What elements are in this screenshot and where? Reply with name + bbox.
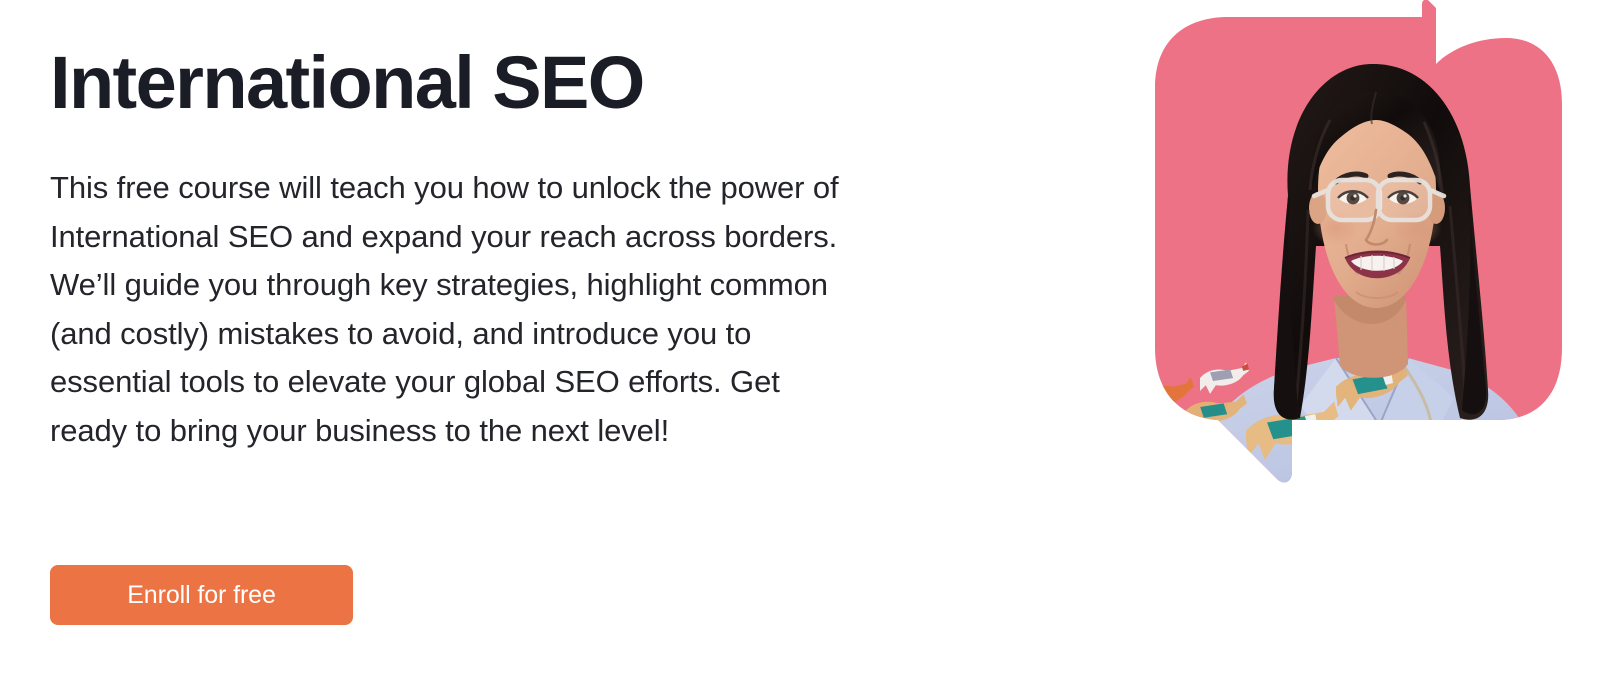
hero-section: International SEO This free course will … <box>0 0 1600 677</box>
hero-media-column <box>1140 0 1580 520</box>
page-title: International SEO <box>50 44 644 122</box>
hero-copy-column: International SEO This free course will … <box>50 0 910 677</box>
portrait-blob-svg <box>1140 0 1580 520</box>
enroll-for-free-button[interactable]: Enroll for free <box>50 565 353 625</box>
hero-description: This free course will teach you how to u… <box>50 164 860 455</box>
glasses-icon <box>1314 180 1444 220</box>
portrait-blob <box>1140 0 1580 520</box>
